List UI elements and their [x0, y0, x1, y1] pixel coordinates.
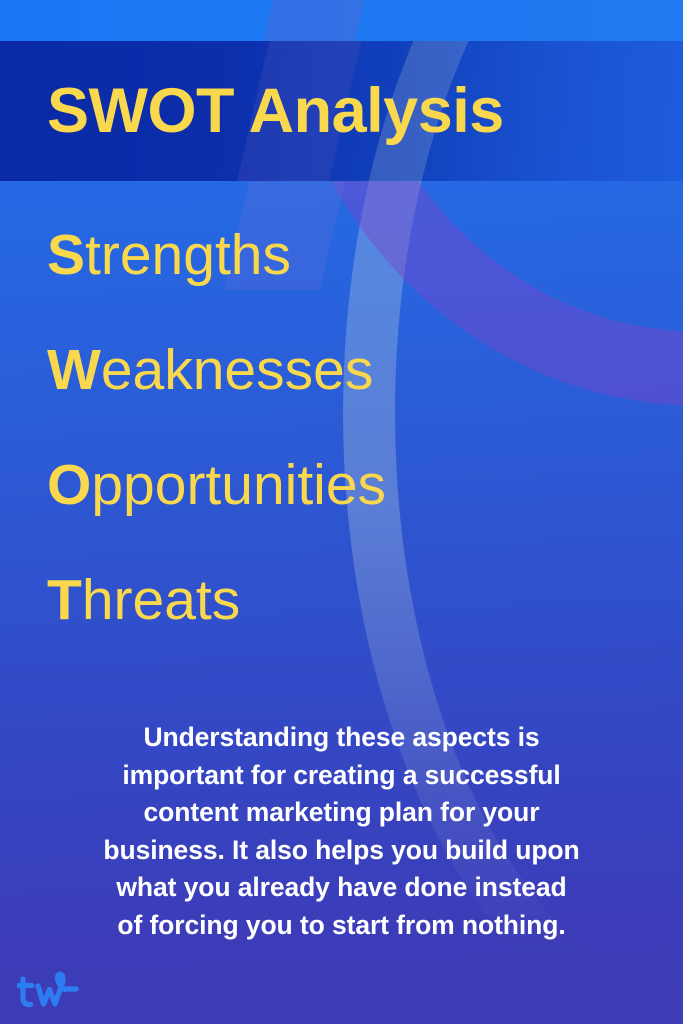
swot-rest-threats: hreats	[82, 568, 240, 632]
summary-line: important for creating a successful	[44, 757, 639, 795]
summary-line: of forcing you to start from nothing.	[44, 907, 639, 945]
swot-rest-weaknesses: eaknesses	[101, 338, 374, 402]
summary-line: business. It also helps you build upon	[44, 832, 639, 870]
summary-line: Understanding these aspects is	[44, 719, 639, 757]
summary-line: what you already have done instead	[44, 869, 639, 907]
swot-lead-letter-t: T	[47, 568, 82, 632]
summary-paragraph: Understanding these aspects is important…	[44, 719, 639, 944]
title-banner: SWOT Analysis	[0, 41, 683, 181]
swot-lead-letter-s: S	[47, 223, 85, 287]
swot-item-strengths: Strengths	[47, 227, 647, 284]
swot-rest-opportunities: pportunities	[91, 453, 386, 517]
swot-list: Strengths Weaknesses Opportunities Threa…	[47, 227, 647, 629]
page-title: SWOT Analysis	[0, 80, 504, 143]
top-accent-strip	[0, 0, 683, 41]
tw-logo	[17, 970, 89, 1012]
swot-item-opportunities: Opportunities	[47, 457, 647, 514]
swot-lead-letter-w: W	[47, 338, 101, 402]
top-strip-streak-decoration	[263, 0, 364, 41]
swot-item-weaknesses: Weaknesses	[47, 342, 647, 399]
swot-item-threats: Threats	[47, 572, 647, 629]
summary-line: content marketing plan for your	[44, 794, 639, 832]
swot-lead-letter-o: O	[47, 453, 91, 517]
swot-rest-strengths: trengths	[85, 223, 291, 287]
tw-logo-icon	[17, 970, 89, 1012]
swot-poster: SWOT Analysis Strengths Weaknesses Oppor…	[0, 0, 683, 1024]
